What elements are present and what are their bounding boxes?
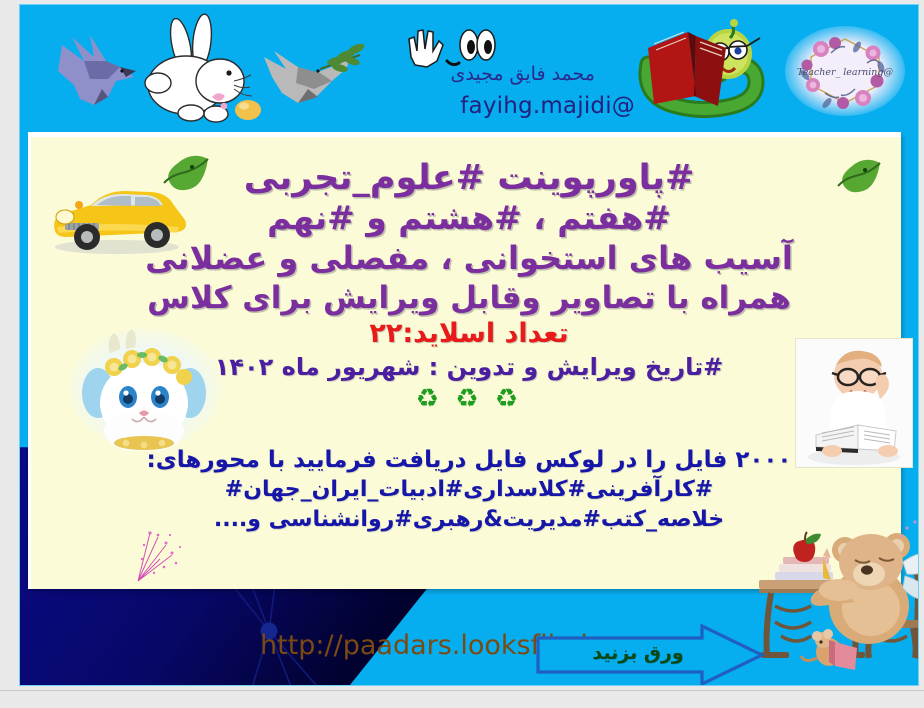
presentation-slide: @Teacher_ learning #پاورپوینت #علوم_تجرب… bbox=[20, 5, 918, 685]
author-email: fayihg.majidi@ bbox=[460, 93, 635, 119]
puppy-icon bbox=[66, 323, 224, 451]
green-leaf-icon-left bbox=[158, 153, 210, 191]
page-bottom-rule bbox=[0, 690, 924, 691]
teddy-bear-desk-icon bbox=[751, 510, 918, 678]
green-leaf-icon-right bbox=[832, 157, 882, 193]
promo-line-2: #کارآفرینی#کلاسداری#ادبیات_ایران_جهان# bbox=[20, 475, 918, 505]
baby-reading-photo bbox=[795, 338, 913, 468]
firework-sparkle-icon bbox=[120, 523, 192, 585]
slide-stage: @Teacher_ learning #پاورپوینت #علوم_تجرب… bbox=[0, 0, 924, 708]
title-line-4: همراه با تصاویر وقابل ویرایش برای کلاس bbox=[20, 278, 918, 318]
next-slide-label: ورق بزنید bbox=[578, 642, 698, 664]
author-name: محمد فایق مجیدی bbox=[450, 63, 595, 85]
next-slide-button[interactable]: ورق بزنید bbox=[534, 624, 766, 685]
